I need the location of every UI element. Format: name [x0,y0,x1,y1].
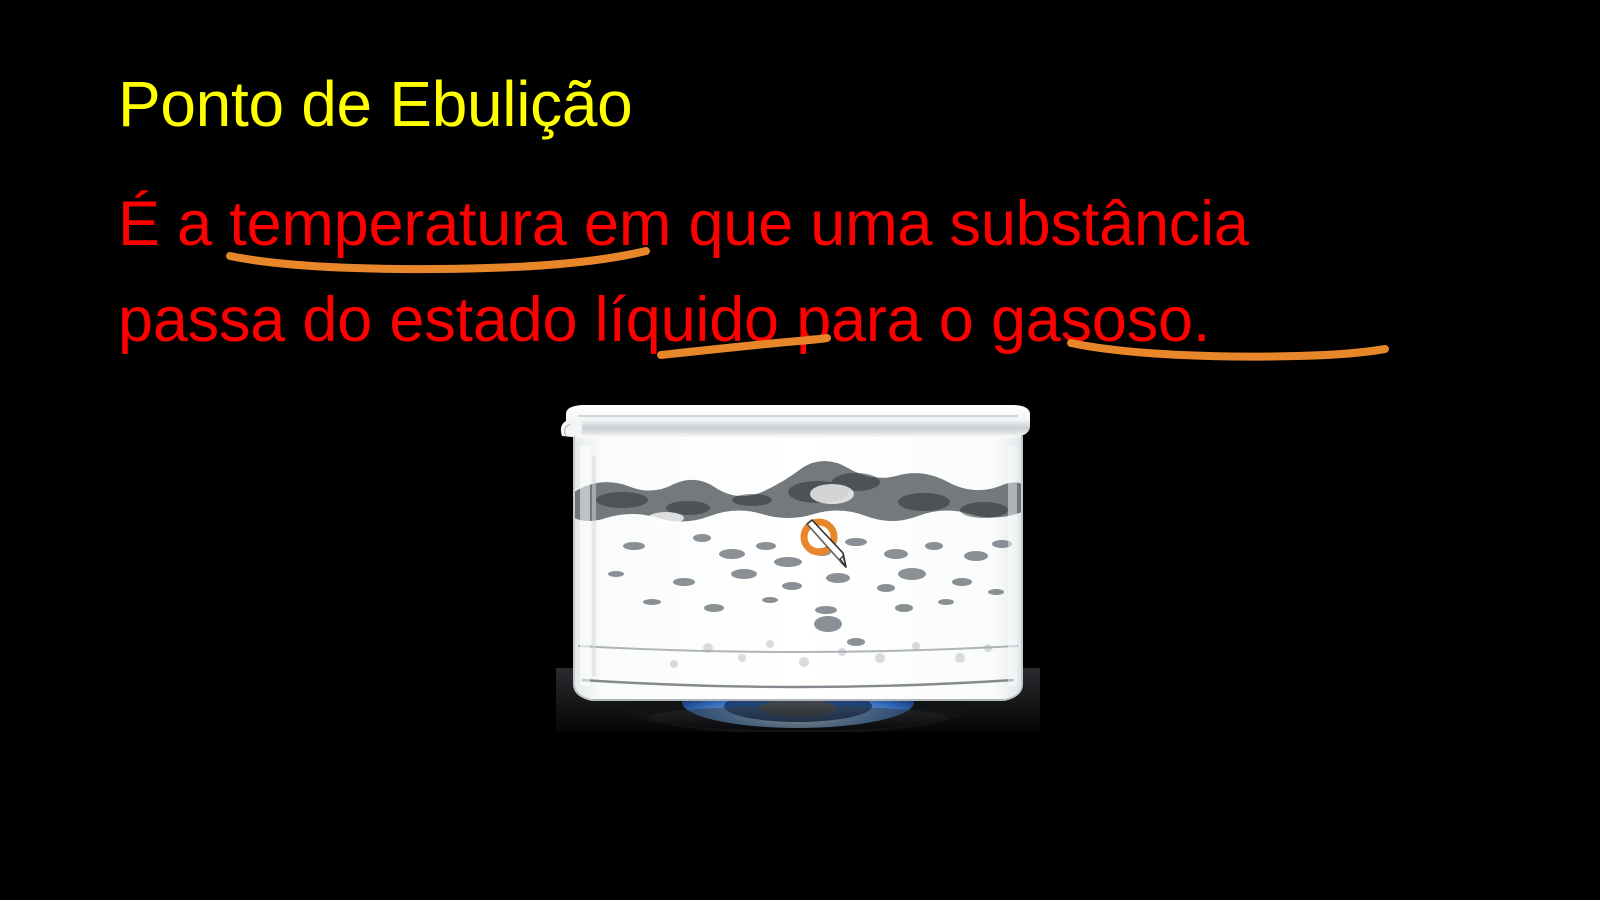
glass-beaker [561,405,1030,700]
page-title: Ponto de Ebulição [118,72,1478,136]
presentation-slide: Ponto de Ebulição É a temperatura em que… [0,0,1600,900]
boiling-water-photo [556,396,1040,732]
body-line-1: É a temperatura em que uma substância [118,176,1518,272]
body-line-2: passa do estado líquido para o gasoso. [118,272,1518,368]
slide-body-text: É a temperatura em que uma substância pa… [118,176,1518,368]
